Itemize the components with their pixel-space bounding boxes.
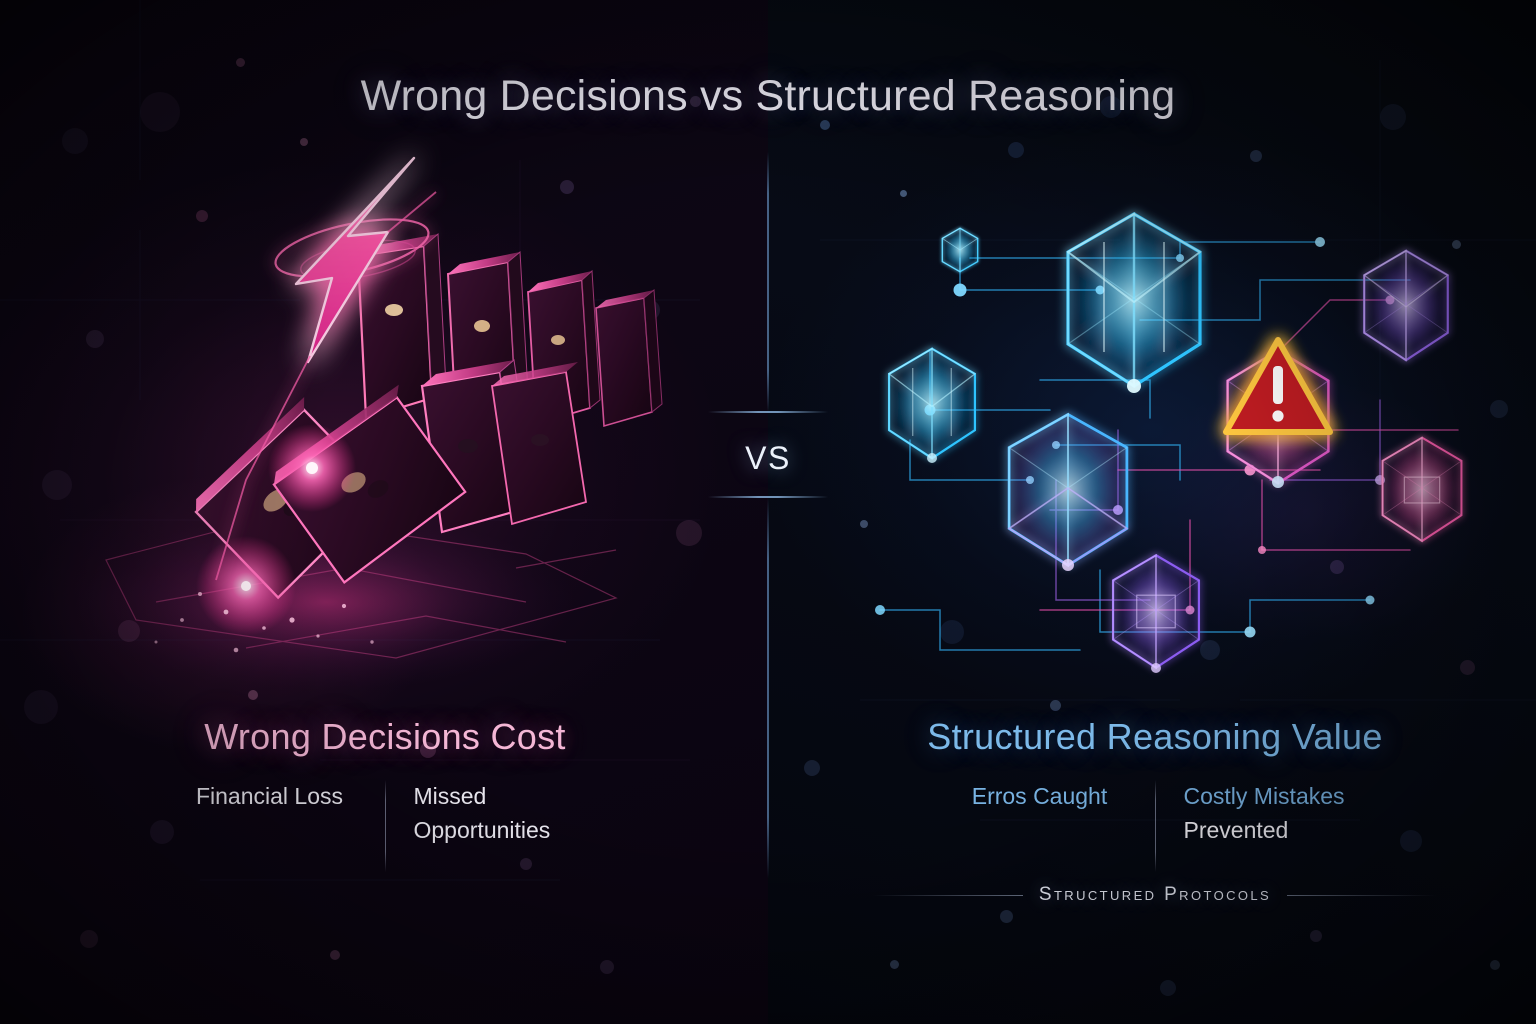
protocols-label: Structured Protocols (1039, 884, 1271, 906)
crystal-node (1364, 251, 1448, 360)
structured-protocols-footer: Structured Protocols (830, 884, 1480, 906)
crystal-node (1068, 214, 1200, 386)
right-panel: Structured Reasoning Value Erros Caught … (830, 716, 1480, 872)
left-panel-heading: Wrong Decisions Cost (60, 716, 710, 758)
exclamation-dot (1272, 410, 1283, 421)
exclamation-bar (1273, 366, 1283, 404)
right-stat-costly-mistakes-prevented: Costly Mistakes Prevented (1156, 780, 1386, 847)
right-stat-line1: Costly Mistakes (1184, 783, 1345, 809)
impact-spark-core (241, 581, 251, 591)
crystal-node (1113, 555, 1199, 667)
crystal-node (1009, 414, 1127, 565)
impact-spark-core (306, 462, 318, 474)
left-stat-missed-opportunities: Missed Opportunities (386, 780, 616, 847)
divider-tick-top (708, 411, 828, 413)
divider-line-top (767, 152, 769, 412)
crystal-node (1383, 438, 1462, 541)
protocols-rule-right (1287, 895, 1437, 896)
left-stat-row: Financial Loss Missed Opportunities (60, 780, 710, 872)
falling-dominoes-illustration (96, 150, 716, 710)
crystal-node (889, 349, 975, 459)
right-stat-errors-caught: Erros Caught (925, 780, 1155, 814)
crystal-node-network-illustration (850, 180, 1490, 700)
crystal-node (942, 228, 977, 272)
vs-label: VS (716, 440, 820, 477)
protocols-rule-left (873, 895, 1023, 896)
domino-tile (596, 290, 662, 426)
right-stat-row: Erros Caught Costly Mistakes Prevented (830, 780, 1480, 872)
left-panel: Wrong Decisions Cost Financial Loss Miss… (60, 716, 710, 872)
right-stat-line2: Prevented (1184, 817, 1289, 843)
divider-line-bottom (767, 498, 769, 878)
poster-canvas: Wrong Decisions vs Structured Reasoning … (0, 0, 1536, 1024)
page-title: Wrong Decisions vs Structured Reasoning (0, 72, 1536, 121)
left-stat-financial-loss: Financial Loss (155, 780, 385, 814)
right-panel-heading: Structured Reasoning Value (830, 716, 1480, 758)
